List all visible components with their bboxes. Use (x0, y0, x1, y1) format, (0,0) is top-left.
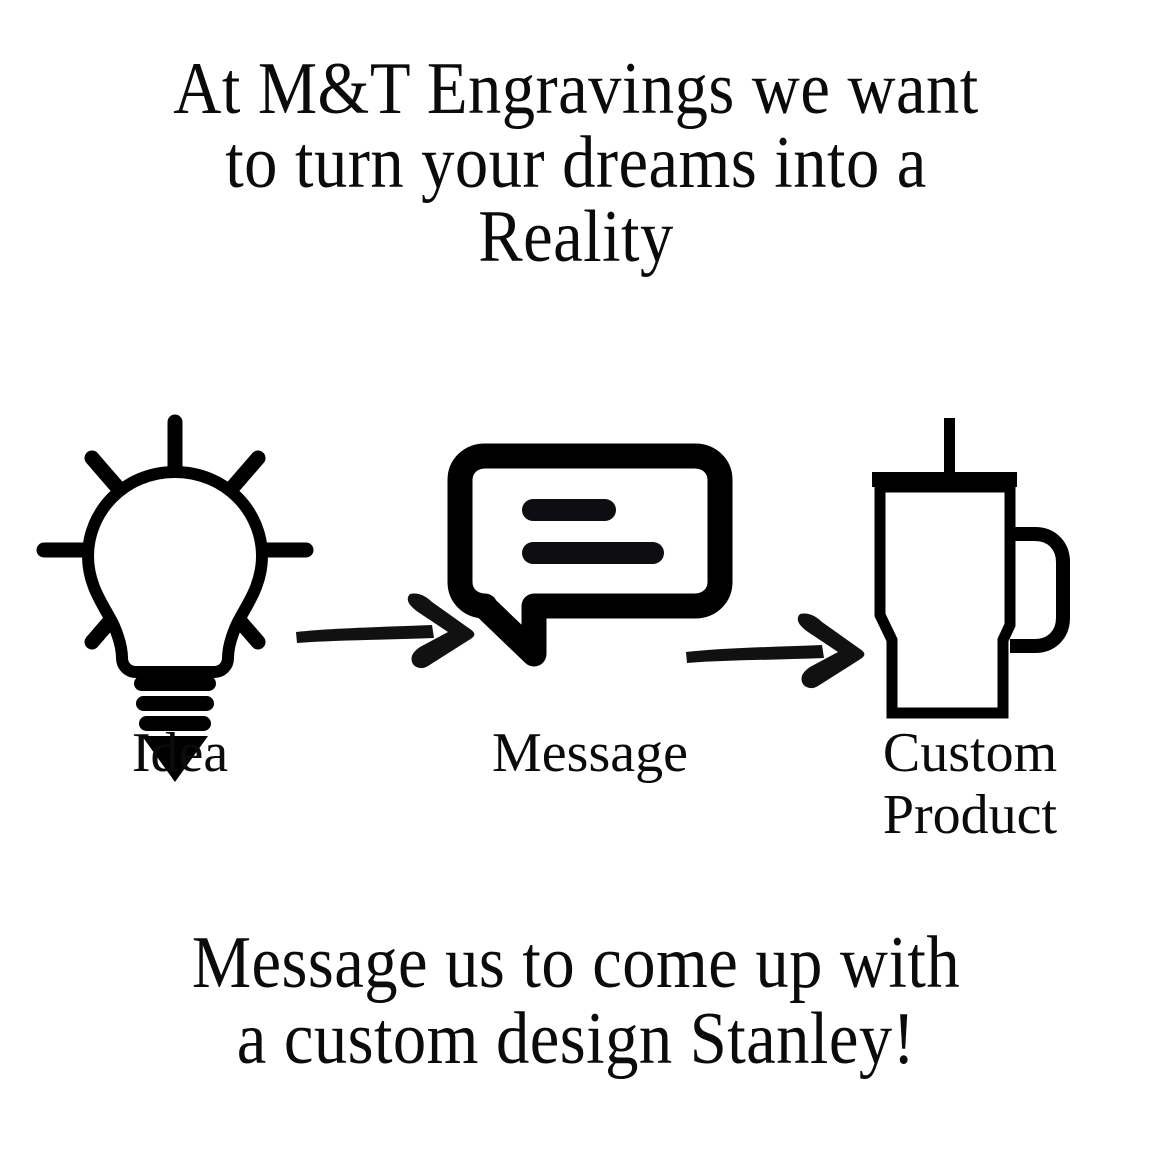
flow-step-label-product: Custom Product (820, 722, 1120, 846)
flow-step-label-message: Message (400, 722, 780, 784)
process-flow: Idea (0, 410, 1152, 850)
lightbulb-icon (30, 410, 330, 720)
tumbler-icon (820, 410, 1120, 720)
footer-text: Message us to come up with a custom desi… (58, 925, 1095, 1077)
flow-step-idea: Idea (30, 410, 330, 850)
headline-text: At M&T Engravings we want to turn your d… (58, 52, 1095, 274)
flow-step-product: Custom Product (820, 410, 1120, 850)
flow-step-label-idea: Idea (30, 722, 330, 784)
promo-graphic: At M&T Engravings we want to turn your d… (0, 0, 1152, 1152)
